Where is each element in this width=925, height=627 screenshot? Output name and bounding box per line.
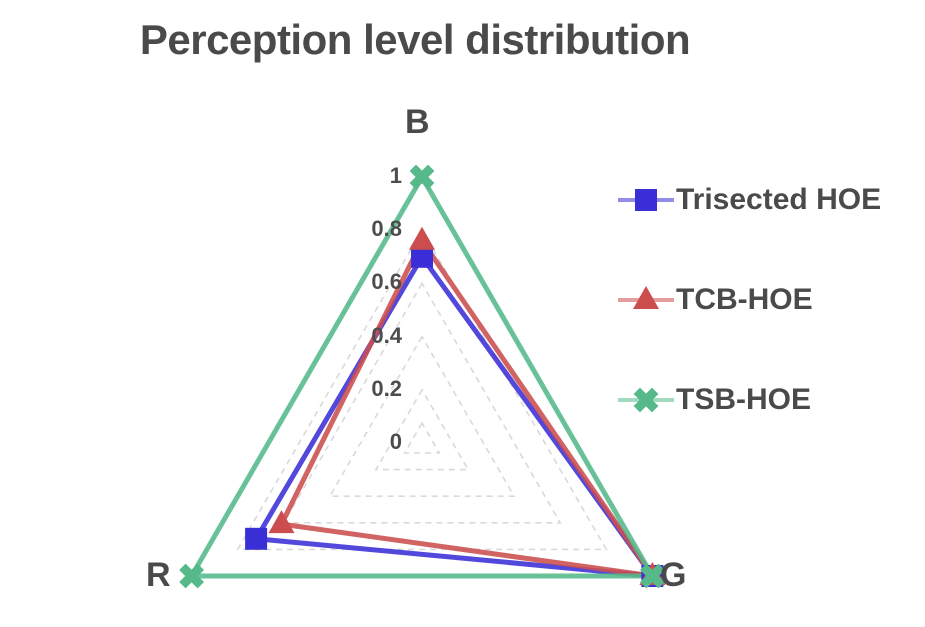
legend-label: Trisected HOE xyxy=(676,183,881,217)
tick-label: 0.4 xyxy=(302,325,402,347)
legend-marker xyxy=(618,286,674,314)
tick-label: 1 xyxy=(302,165,402,187)
legend-label: TSB-HOE xyxy=(676,383,811,417)
grid-ring xyxy=(405,423,440,453)
cross-marker xyxy=(632,386,660,414)
grid-ring xyxy=(284,283,560,522)
triangle-marker xyxy=(409,227,435,250)
triangle-marker xyxy=(632,286,660,314)
chart-legend: Trisected HOETCB-HOETSB-HOE xyxy=(618,150,918,450)
legend-item-tcb-hoe[interactable]: TCB-HOE xyxy=(618,250,918,350)
cross-marker xyxy=(410,165,435,190)
square-marker xyxy=(635,189,657,211)
axis-label-b: B xyxy=(405,105,430,139)
cross-marker xyxy=(634,388,659,413)
tick-label: 0.8 xyxy=(302,218,402,240)
grid-ring xyxy=(330,337,514,497)
tick-label: 0 xyxy=(302,431,402,453)
triangle-marker xyxy=(633,286,659,309)
axis-label-r: R xyxy=(146,558,171,592)
series-markers xyxy=(179,165,665,589)
chart-page: Perception level distribution B R G 10.8… xyxy=(0,0,925,627)
square-marker xyxy=(245,528,267,550)
tick-label: 0.2 xyxy=(302,378,402,400)
legend-item-trisected-hoe[interactable]: Trisected HOE xyxy=(618,150,918,250)
square-marker xyxy=(632,186,660,214)
legend-label: TCB-HOE xyxy=(676,283,813,317)
axis-label-g: G xyxy=(660,558,686,592)
legend-marker xyxy=(618,186,674,214)
legend-item-tsb-hoe[interactable]: TSB-HOE xyxy=(618,350,918,450)
tick-label: 0.6 xyxy=(302,271,402,293)
legend-marker xyxy=(618,386,674,414)
